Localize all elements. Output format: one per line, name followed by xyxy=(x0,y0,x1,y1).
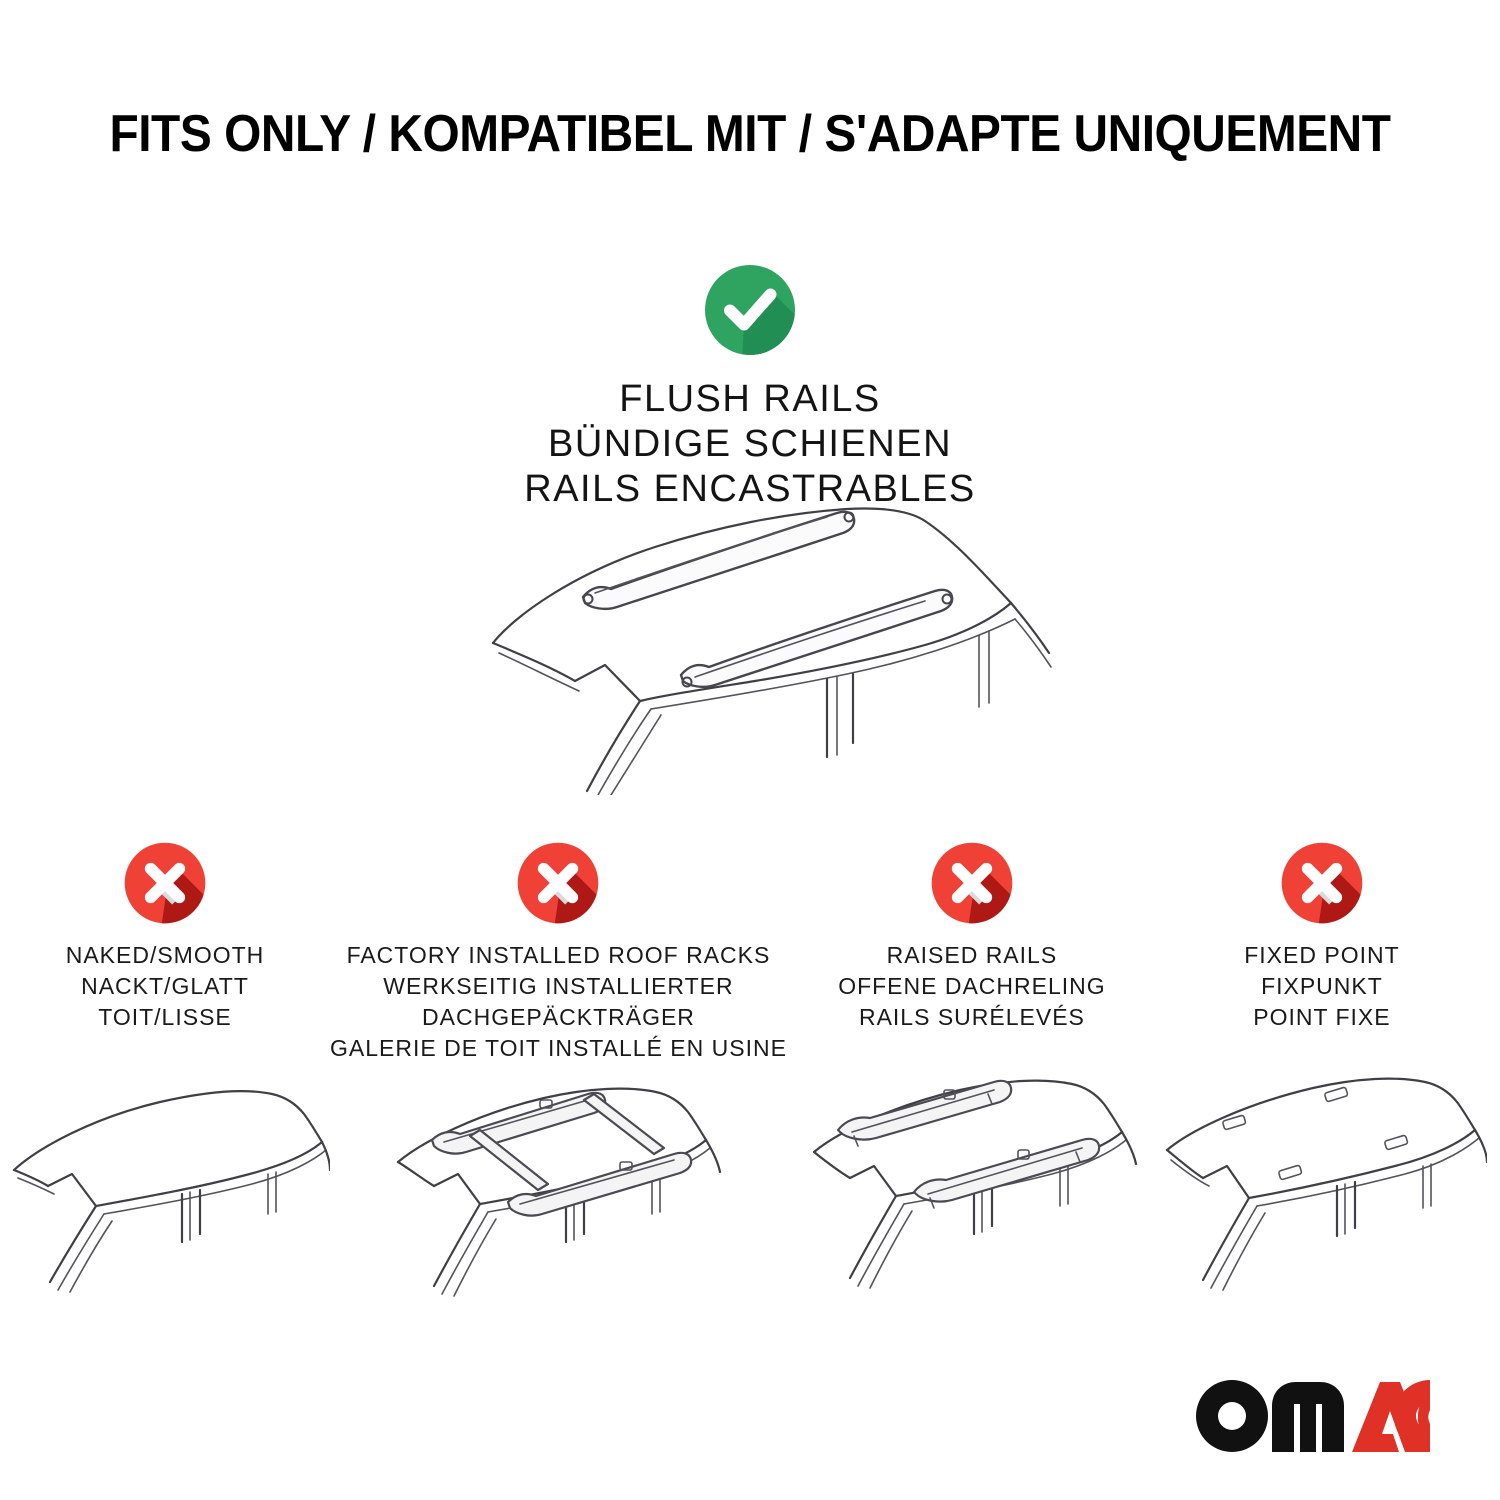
x-circle-icon xyxy=(515,840,601,926)
label-line-en: NAKED/SMOOTH xyxy=(66,940,265,971)
incompatible-section: NAKED/SMOOTH NACKT/GLATT TOIT/LISSE xyxy=(0,840,1500,1310)
incompatible-labels-naked-smooth: NAKED/SMOOTH NACKT/GLATT TOIT/LISSE xyxy=(66,940,265,1058)
compatible-section: FLUSH RAILS BÜNDIGE SCHIENEN RAILS ENCAS… xyxy=(0,262,1500,511)
incompatible-labels-raised-rails: RAISED RAILS OFFENE DACHRELING RAILS SUR… xyxy=(838,940,1105,1058)
omac-logo xyxy=(1194,1378,1444,1456)
incompatible-item-factory-roof-racks: FACTORY INSTALLED ROOF RACKS WERKSEITIG … xyxy=(330,840,787,1310)
label-line-de: OFFENE DACHRELING xyxy=(838,971,1105,1002)
incompatible-item-fixed-point: FIXED POINT FIXPUNKT POINT FIXE xyxy=(1157,840,1487,1304)
incompatible-item-naked-smooth: NAKED/SMOOTH NACKT/GLATT TOIT/LISSE xyxy=(0,840,330,1304)
incompatible-labels-fixed-point: FIXED POINT FIXPUNKT POINT FIXE xyxy=(1244,940,1399,1058)
x-circle-icon xyxy=(122,840,208,926)
page-title: FITS ONLY / KOMPATIBEL MIT / S'ADAPTE UN… xyxy=(60,104,1440,164)
label-line-fr: RAILS SURÉLEVÉS xyxy=(838,1002,1105,1033)
incompatible-item-raised-rails: RAISED RAILS OFFENE DACHRELING RAILS SUR… xyxy=(787,840,1157,1304)
car-roof-with-flush-rails-illustration xyxy=(455,495,1055,795)
label-line-fr: GALERIE DE TOIT INSTALLÉ EN USINE xyxy=(330,1033,787,1064)
label-line-en: FACTORY INSTALLED ROOF RACKS xyxy=(330,940,787,971)
label-line-de-1: WERKSEITIG INSTALLIERTER xyxy=(330,971,787,1002)
label-line-de: FIXPUNKT xyxy=(1244,971,1399,1002)
car-roof-naked-smooth-illustration xyxy=(0,1074,330,1304)
incompatible-labels-factory-roof-racks: FACTORY INSTALLED ROOF RACKS WERKSEITIG … xyxy=(330,940,787,1064)
compatible-label-de: BÜNDIGE SCHIENEN xyxy=(0,422,1500,467)
omac-logo-mark xyxy=(1194,1378,1444,1456)
x-circle-icon xyxy=(1279,840,1365,926)
car-roof-raised-rails-illustration xyxy=(787,1074,1157,1304)
label-line-fr: POINT FIXE xyxy=(1244,1002,1399,1033)
car-roof-fixed-point-illustration xyxy=(1157,1074,1487,1304)
label-line-fr: TOIT/LISSE xyxy=(66,1002,265,1033)
compatible-label-en: FLUSH RAILS xyxy=(0,377,1500,422)
label-line-de: NACKT/GLATT xyxy=(66,971,265,1002)
label-line-de-2: DACHGEPÄCKTRÄGER xyxy=(330,1002,787,1033)
compatible-labels: FLUSH RAILS BÜNDIGE SCHIENEN RAILS ENCAS… xyxy=(0,377,1500,511)
car-roof-factory-roof-racks-illustration xyxy=(330,1080,787,1310)
label-line-en: FIXED POINT xyxy=(1244,940,1399,971)
check-circle-icon xyxy=(702,262,798,358)
x-circle-icon xyxy=(929,840,1015,926)
label-line-en: RAISED RAILS xyxy=(838,940,1105,971)
